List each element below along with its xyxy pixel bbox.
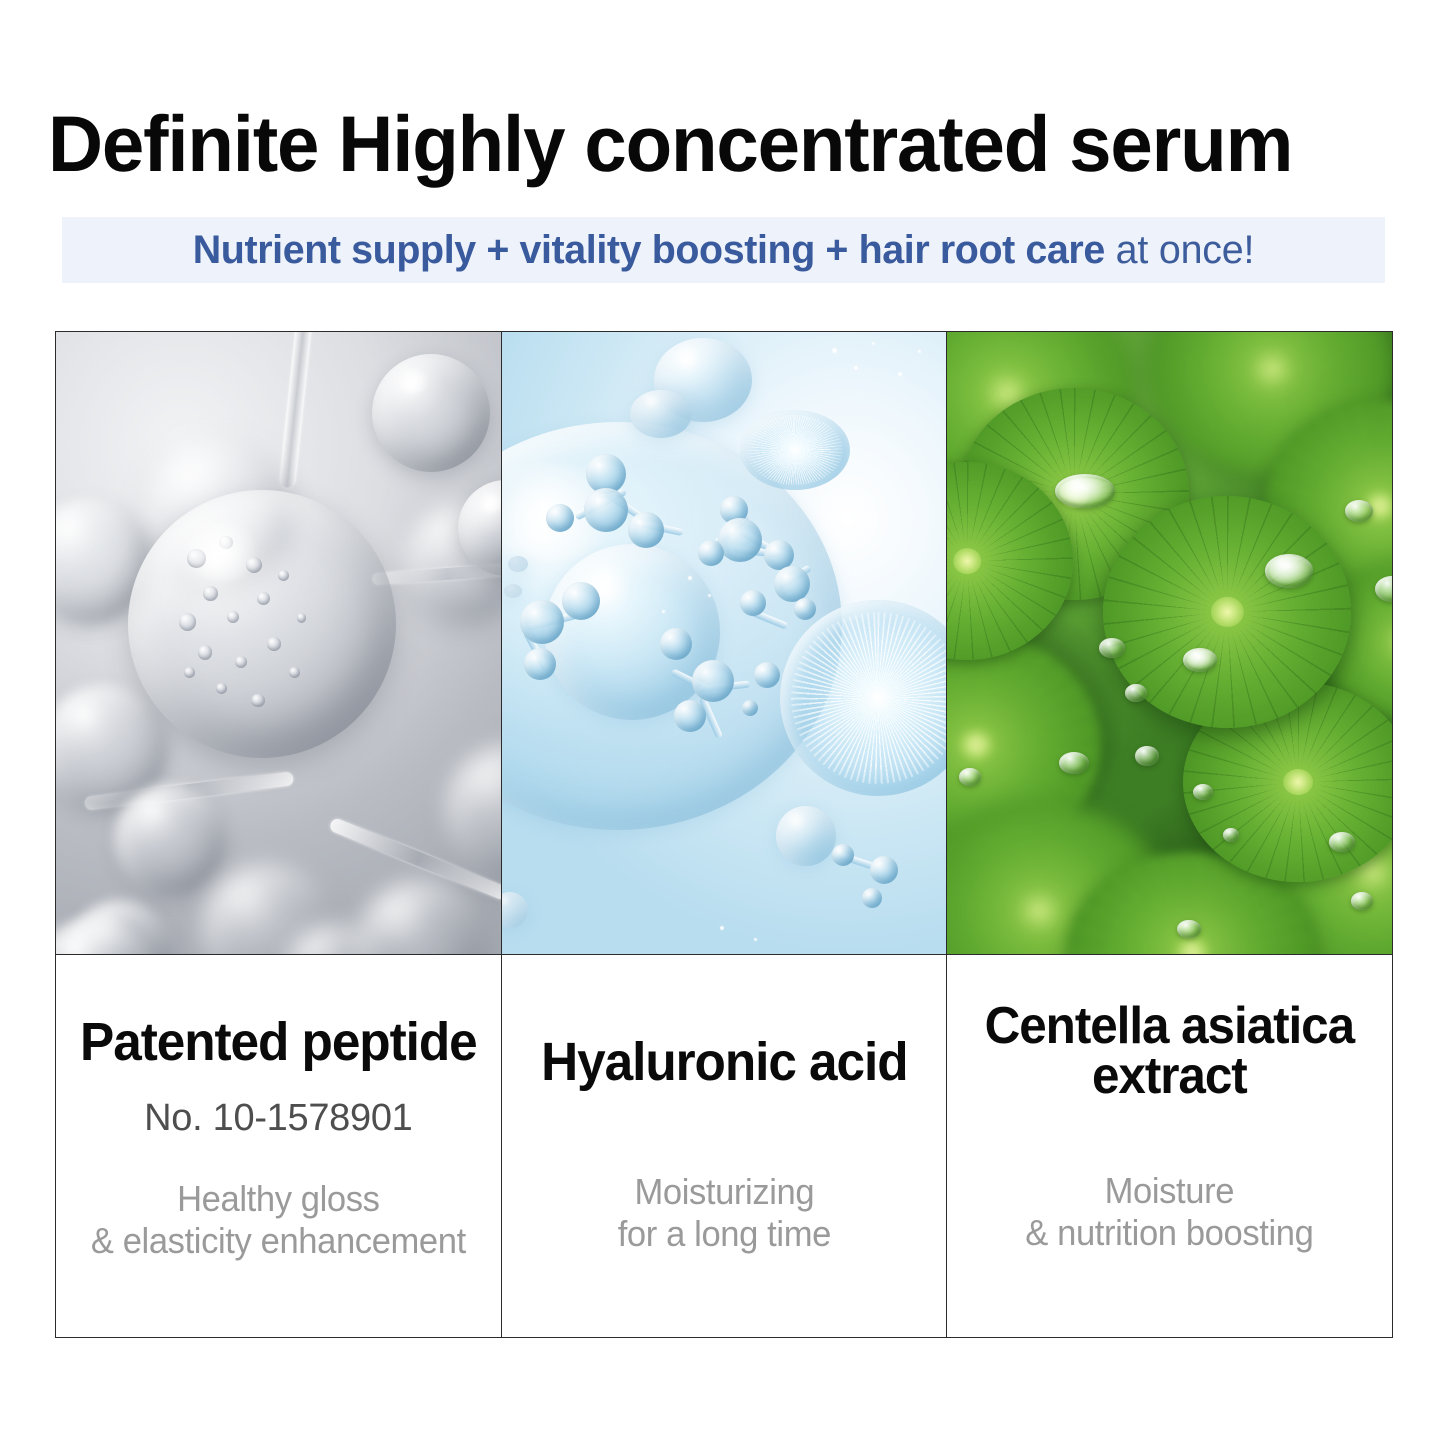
description-line-1: Moisturizing <box>520 1171 928 1213</box>
patented-peptide-text-panel: Patented peptide No. 10-1578901 Healthy … <box>56 955 501 1337</box>
ingredient-grid: Patented peptide No. 10-1578901 Healthy … <box>55 331 1393 1338</box>
heading-line-2: extract <box>968 1051 1371 1101</box>
ingredient-description: Healthy gloss & elasticity enhancement <box>74 1178 482 1262</box>
product-feature-panel: Definite Highly concentrated serum Nutri… <box>0 0 1445 1445</box>
description-line-1: Healthy gloss <box>74 1178 482 1220</box>
ingredient-heading: Patented peptide <box>77 1011 480 1073</box>
ingredient-card-hyaluronic-acid: Hyaluronic acid Moisturizing for a long … <box>502 332 948 1337</box>
description-line-2: for a long time <box>520 1213 928 1255</box>
subtitle-light-part: at once! <box>1105 228 1254 272</box>
subtitle-strong-part: Nutrient supply + vitality boosting + ha… <box>193 228 1105 272</box>
ingredient-heading: Centella asiatica extract <box>968 1001 1371 1102</box>
patent-number: No. 10-1578901 <box>66 1097 491 1140</box>
centella-asiatica-leaf-image <box>947 332 1392 955</box>
ingredient-heading: Hyaluronic acid <box>522 1031 925 1093</box>
page-title: Definite Highly concentrated serum <box>48 98 1351 190</box>
subtitle-text: Nutrient supply + vitality boosting + ha… <box>72 217 1375 283</box>
blue-bubble-art <box>502 332 947 954</box>
subtitle-band: Nutrient supply + vitality boosting + ha… <box>62 217 1385 283</box>
patented-peptide-molecule-image <box>56 332 501 955</box>
hyaluronic-acid-text-panel: Hyaluronic acid Moisturizing for a long … <box>502 955 947 1337</box>
ingredient-description: Moisturizing for a long time <box>520 1171 928 1255</box>
description-line-1: Moisture <box>966 1170 1374 1212</box>
ingredient-description: Moisture & nutrition boosting <box>966 1170 1374 1254</box>
ingredient-card-centella-asiatica: Centella asiatica extract Moisture & nut… <box>947 332 1392 1337</box>
description-line-2: & elasticity enhancement <box>74 1220 482 1262</box>
heading-line-1: Centella asiatica <box>968 1001 1371 1051</box>
ingredient-card-patented-peptide: Patented peptide No. 10-1578901 Healthy … <box>56 332 502 1337</box>
centella-asiatica-text-panel: Centella asiatica extract Moisture & nut… <box>947 955 1392 1337</box>
silver-molecule-art <box>56 332 501 954</box>
description-line-2: & nutrition boosting <box>966 1212 1374 1254</box>
hyaluronic-acid-bubble-image <box>502 332 947 955</box>
centella-leaf-art <box>947 332 1392 954</box>
